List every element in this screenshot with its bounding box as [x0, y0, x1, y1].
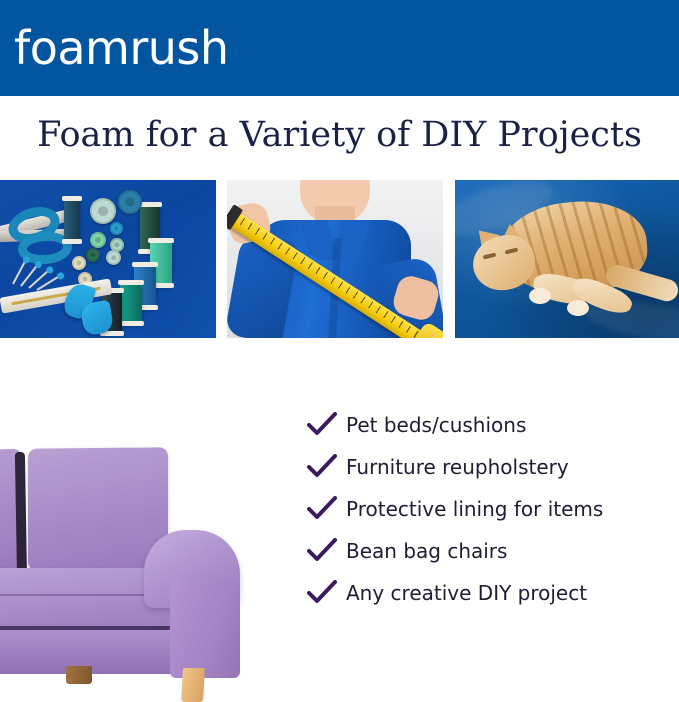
sewing-supplies-photo	[0, 180, 216, 338]
benefit-label: Protective lining for items	[346, 496, 603, 522]
brand-header-band: foamrush	[0, 0, 679, 96]
tape-measure-photo	[227, 180, 443, 338]
sofa-arm-panel	[170, 580, 240, 678]
button-small-blue	[110, 222, 123, 235]
photo-strip	[0, 180, 679, 338]
cat-paw-front	[529, 288, 551, 304]
purple-sofa-illustration	[0, 440, 274, 679]
sofa-seat-seam	[0, 594, 168, 596]
thread-spool-navy	[64, 198, 80, 242]
sofa-cushion-gap	[15, 452, 27, 582]
button-small-green	[90, 232, 106, 248]
button-small-forest	[86, 248, 100, 262]
brand-wordmark: foamrush	[14, 22, 229, 74]
benefit-label: Pet beds/cushions	[346, 412, 526, 438]
benefit-item: Protective lining for items	[306, 488, 672, 530]
benefit-label: Bean bag chairs	[346, 538, 507, 564]
benefit-item: Furniture reupholstery	[306, 446, 672, 488]
sofa-back-cushion-right	[28, 447, 168, 570]
page-title: Foam for a Variety of DIY Projects	[0, 104, 679, 166]
check-icon	[306, 496, 346, 522]
benefits-list: Pet beds/cushions Furniture reupholstery…	[306, 404, 672, 614]
sofa-leg-back	[66, 666, 92, 684]
button-small-cream	[72, 256, 86, 270]
benefit-item: Bean bag chairs	[306, 530, 672, 572]
button-large-pale	[90, 198, 116, 224]
check-icon	[306, 580, 346, 606]
benefit-item: Pet beds/cushions	[306, 404, 672, 446]
button-large-blue	[118, 190, 142, 214]
check-icon	[306, 454, 346, 480]
cat-paw-back	[567, 300, 589, 316]
check-icon	[306, 538, 346, 564]
sofa-leg-front	[181, 668, 205, 702]
benefit-label: Any creative DIY project	[346, 580, 587, 606]
cat-on-cushion-photo	[455, 180, 679, 338]
benefit-label: Furniture reupholstery	[346, 454, 569, 480]
check-icon	[306, 412, 346, 438]
benefit-item: Any creative DIY project	[306, 572, 672, 614]
button-small-grey	[106, 250, 121, 265]
